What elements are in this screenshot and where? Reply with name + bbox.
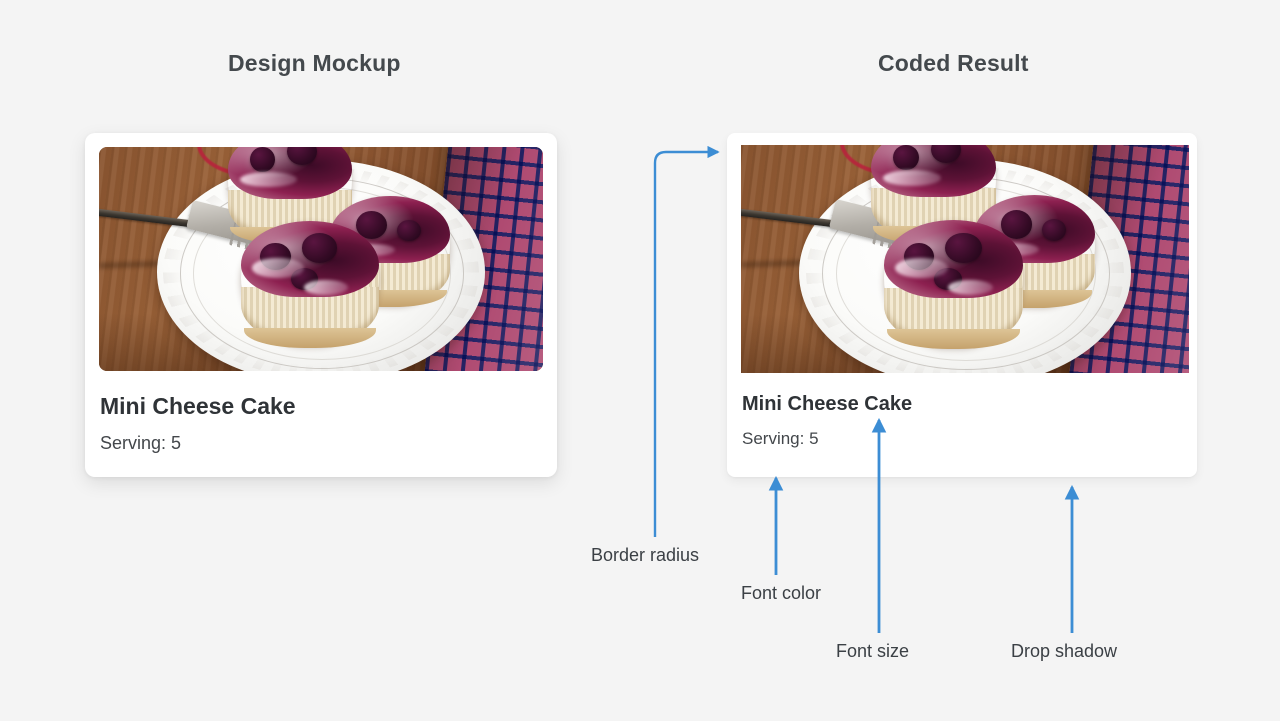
design-mockup-card[interactable]: Mini Cheese Cake Serving: 5 — [85, 133, 557, 477]
coded-result-card[interactable]: Mini Cheese Cake Serving: 5 — [727, 133, 1197, 477]
mockup-card-image — [99, 147, 543, 371]
cheesecake-front — [884, 220, 1023, 345]
page-root: Design Mockup Coded Result — [0, 0, 1280, 721]
coded-card-subtitle: Serving: 5 — [742, 429, 1197, 449]
column-title-coded-result: Coded Result — [878, 50, 1029, 77]
annotation-label-drop-shadow: Drop shadow — [1011, 641, 1117, 662]
coded-card-title: Mini Cheese Cake — [742, 393, 1197, 416]
mockup-card-title: Mini Cheese Cake — [100, 393, 543, 420]
annotation-label-font-color: Font color — [741, 583, 821, 604]
coded-card-image — [741, 145, 1189, 373]
cheesecake-front — [241, 221, 379, 344]
column-title-design-mockup: Design Mockup — [228, 50, 401, 77]
annotation-label-font-size: Font size — [836, 641, 909, 662]
arrow-border-radius — [655, 152, 718, 537]
annotation-label-border-radius: Border radius — [591, 545, 699, 566]
mockup-card-subtitle: Serving: 5 — [100, 433, 543, 454]
